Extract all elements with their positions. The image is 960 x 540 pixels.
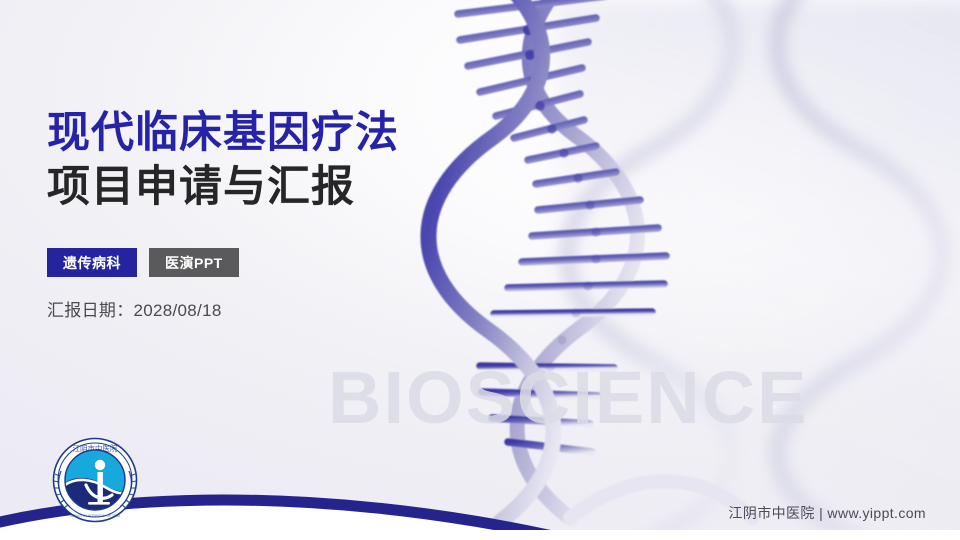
title-block: 现代临床基因疗法 项目申请与汇报 遗传病科 医演PPT 汇报日期：2028/08… [47,108,477,321]
svg-text:JIANGYIN HOSPITAL OF TCM: JIANGYIN HOSPITAL OF TCM [70,514,120,518]
presentation-title-slide: BIOSCIENCE 现代临床基因疗法 项目申请与汇报 遗传病科 医演PPT 汇… [0,0,960,540]
hospital-logo: 江阴市中医院 JIANGYIN HOSPITAL OF TCM [42,427,148,533]
report-date: 汇报日期：2028/08/18 [47,296,477,321]
page-title-secondary: 项目申请与汇报 [47,162,477,213]
tag-department: 遗传病科 [47,248,137,277]
tag-group: 遗传病科 医演PPT [47,248,477,277]
tag-template: 医演PPT [149,248,239,277]
page-title-primary: 现代临床基因疗法 [47,108,477,159]
footer-credit: 江阴市中医院 | www.yippt.com [728,503,926,523]
